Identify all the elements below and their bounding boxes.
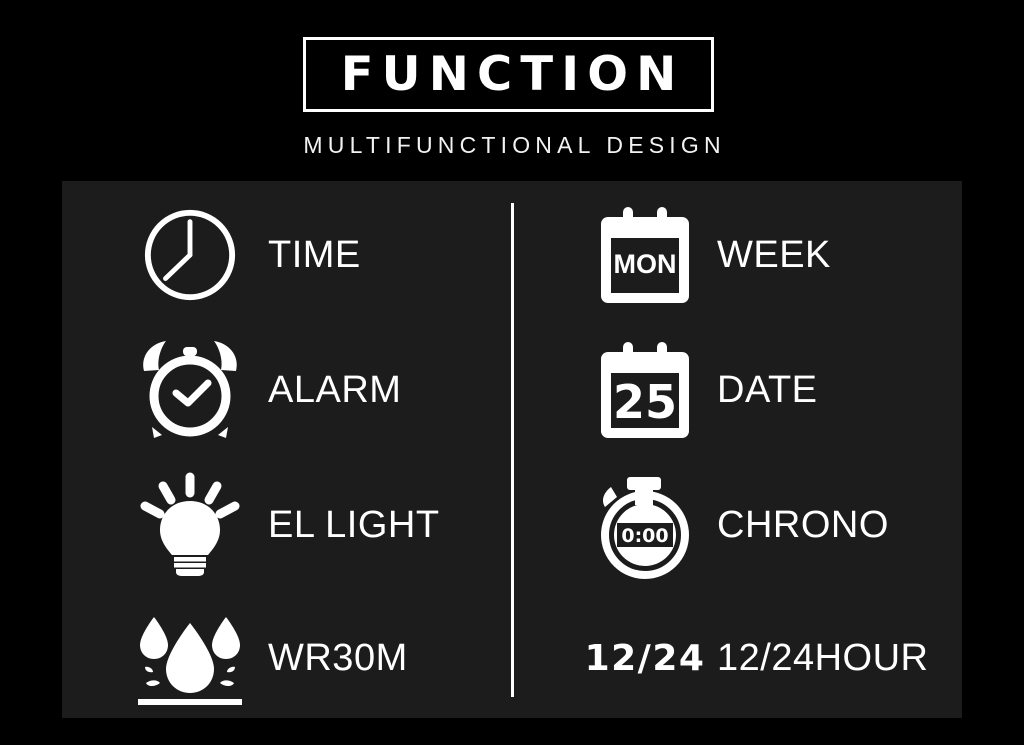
column-divider <box>511 203 514 697</box>
feature-item-alarm[interactable]: ALARM <box>130 330 490 450</box>
page-subtitle: MULTIFUNCTIONAL DESIGN <box>0 132 1024 159</box>
feature-label-chrono: CHRONO <box>717 506 889 544</box>
light-bulb-icon <box>130 470 250 580</box>
feature-item-time[interactable]: TIME <box>130 195 490 315</box>
calendar-week-text: MON <box>614 249 677 279</box>
header: FUNCTION MULTIFUNCTIONAL DESIGN <box>0 0 1024 181</box>
alarm-clock-icon <box>130 335 250 445</box>
feature-label-week: WEEK <box>717 236 831 274</box>
feature-label-date: DATE <box>717 371 818 409</box>
feature-label-alarm: ALARM <box>268 371 401 409</box>
clock-icon <box>130 200 250 310</box>
feature-item-chrono[interactable]: 0:00 CHRONO <box>585 465 955 585</box>
feature-item-date[interactable]: 25 DATE <box>585 330 955 450</box>
twelve-24-icon-text: 12/24 <box>585 638 706 679</box>
title-frame: FUNCTION <box>303 37 714 112</box>
twelve-24-text-icon: 12/24 <box>585 603 705 713</box>
water-drops-icon <box>130 603 250 713</box>
calendar-week-icon: MON <box>585 200 705 310</box>
stopwatch-icon: 0:00 <box>585 470 705 580</box>
stopwatch-display-text: 0:00 <box>621 525 668 547</box>
feature-item-el-light[interactable]: EL LIGHT <box>130 465 490 585</box>
feature-label-12-24-hour: 12/24HOUR <box>717 639 928 677</box>
feature-item-12-24-hour[interactable]: 12/24 12/24HOUR <box>585 598 955 718</box>
feature-item-water-resist[interactable]: WR30M <box>130 598 490 718</box>
feature-label-el-light: EL LIGHT <box>268 506 440 544</box>
calendar-date-icon: 25 <box>585 335 705 445</box>
feature-label-water-resist: WR30M <box>268 639 408 677</box>
page-title: FUNCTION <box>333 51 685 98</box>
feature-item-week[interactable]: MON WEEK <box>585 195 955 315</box>
feature-label-time: TIME <box>268 236 361 274</box>
calendar-date-text: 25 <box>613 375 677 429</box>
